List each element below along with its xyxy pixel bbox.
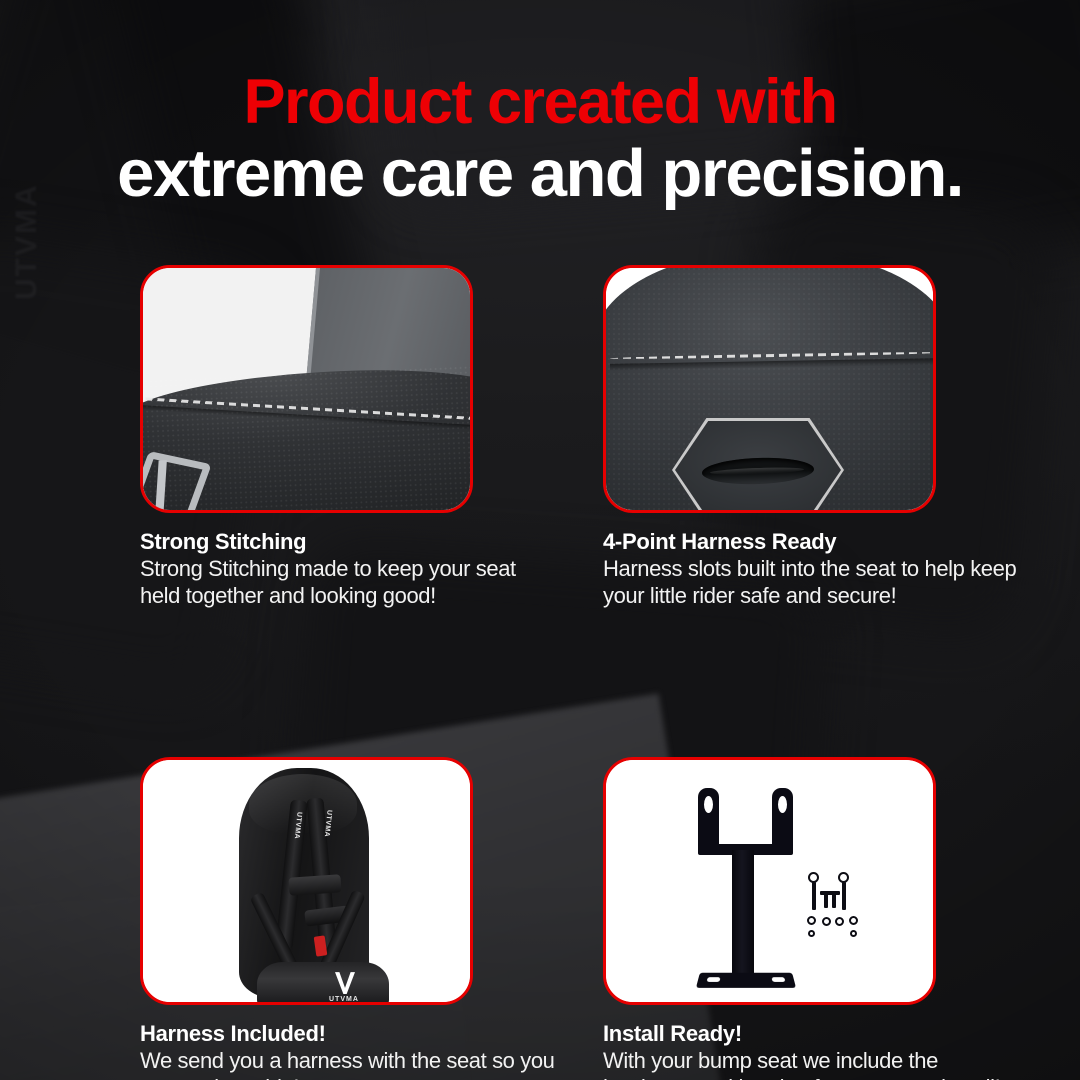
bolt-shaft-short-a: [824, 894, 828, 908]
bracket-arm-left: [698, 788, 719, 850]
washer-2: [822, 917, 831, 926]
feature-caption: Strong Stitching Strong Stitching made t…: [140, 529, 560, 609]
bolt-head-right: [838, 872, 849, 883]
feature-card-harness-included: UTVMA UTVMA UTVMA Harness Included! We s…: [140, 757, 473, 1080]
feature-body: Strong Stitching made to keep your seat …: [140, 556, 560, 609]
feature-image-frame: UTVMA UTVMA UTVMA: [140, 757, 473, 1005]
feature-title: Strong Stitching: [140, 529, 560, 554]
bracket-hardware-photo: [606, 760, 933, 1002]
harness-buckle-upper: [288, 874, 341, 896]
feature-body: With your bump seat we include the hardw…: [603, 1048, 1023, 1080]
poster-canvas: UTVMA Product created with extreme care …: [0, 0, 1080, 1080]
bolt-shaft-long-right: [842, 882, 846, 910]
feature-caption: Install Ready! With your bump seat we in…: [603, 1021, 1023, 1080]
feature-title: 4-Point Harness Ready: [603, 529, 1023, 554]
headline-line-1: Product created with: [0, 72, 1080, 133]
feature-title: Harness Included!: [140, 1021, 560, 1046]
headline: Product created with extreme care and pr…: [0, 72, 1080, 206]
feature-grid: Strong Stitching Strong Stitching made t…: [140, 265, 945, 1080]
feature-card-harness-ready: 4-Point Harness Ready Harness slots buil…: [603, 265, 936, 609]
feature-card-strong-stitching: Strong Stitching Strong Stitching made t…: [140, 265, 473, 609]
bracket-post: [732, 850, 754, 978]
bolt-head-left: [808, 872, 819, 883]
bracket-base-plate: [696, 973, 796, 988]
stitching-photo: [143, 268, 470, 510]
feature-caption: 4-Point Harness Ready Harness slots buil…: [603, 529, 1023, 609]
photo-backdrop: [606, 760, 933, 1002]
washer-3: [835, 917, 844, 926]
washer-1: [807, 916, 816, 925]
seat-base-cushion: [257, 962, 389, 1002]
utvma-brand-text: UTVMA: [329, 996, 359, 1002]
bolt-head-short-b: [828, 891, 840, 895]
feature-card-install-ready: Install Ready! With your bump seat we in…: [603, 757, 936, 1080]
feature-body: Harness slots built into the seat to hel…: [603, 556, 1023, 609]
washer-4: [849, 916, 858, 925]
harness-slot-photo: [606, 268, 933, 510]
feature-title: Install Ready!: [603, 1021, 1023, 1046]
feature-image-frame: [140, 265, 473, 513]
feature-body: We send you a harness with the seat so y…: [140, 1048, 560, 1080]
bracket-arm-right: [772, 788, 793, 850]
headline-line-2: extreme care and precision.: [0, 141, 1080, 206]
feature-image-frame: [603, 265, 936, 513]
feature-caption: Harness Included! We send you a harness …: [140, 1021, 560, 1080]
seat-with-harness-photo: UTVMA UTVMA UTVMA: [143, 760, 470, 1002]
bolt-shaft-long-left: [812, 882, 816, 910]
bolt-shaft-short-b: [832, 894, 836, 908]
feature-image-frame: [603, 757, 936, 1005]
